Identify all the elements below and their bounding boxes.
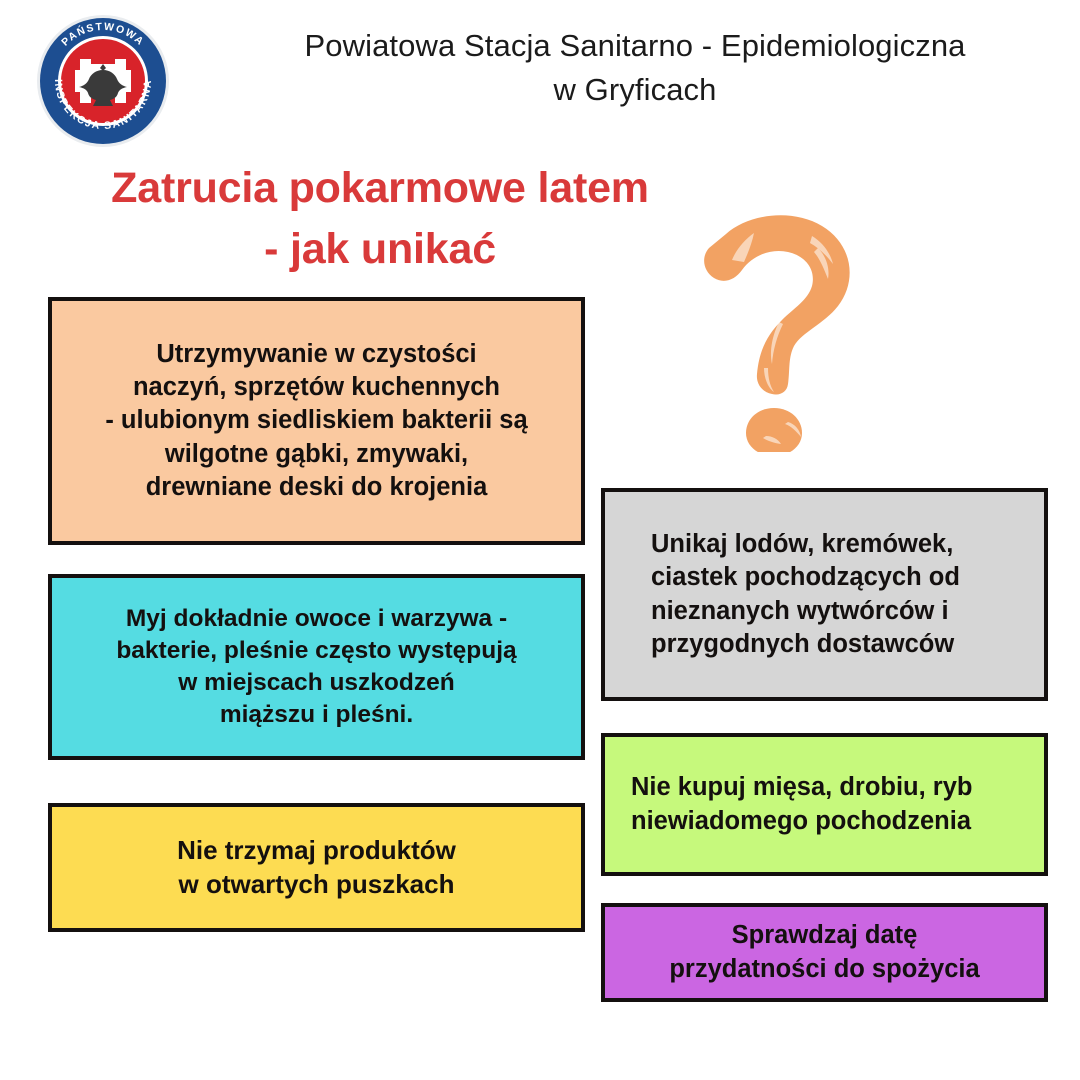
- organisation-name: Powiatowa Stacja Sanitarno - Epidemiolog…: [210, 24, 1060, 112]
- tip-line: w miejscach uszkodzeń: [52, 667, 581, 699]
- tip-line: w otwartych puszkach: [52, 868, 581, 902]
- tip-line: Nie kupuj mięsa, drobiu, ryb: [631, 771, 1032, 804]
- tip-line: wilgotne gąbki, zmywaki,: [52, 438, 581, 471]
- tip-line: Myj dokładnie owoce i warzywa -: [52, 603, 581, 635]
- tip-box-wash-produce: Myj dokładnie owoce i warzywa - bakterie…: [48, 574, 585, 760]
- tip-line: Unikaj lodów, kremówek,: [651, 528, 1032, 561]
- tip-line: miąższu i pleśni.: [52, 699, 581, 731]
- tip-text-hygiene: Utrzymywanie w czystości naczyń, sprzętó…: [52, 338, 581, 504]
- tip-line: naczyń, sprzętów kuchennych: [52, 371, 581, 404]
- tip-text-wash-produce: Myj dokładnie owoce i warzywa - bakterie…: [52, 603, 581, 730]
- tip-box-meat: Nie kupuj mięsa, drobiu, ryb niewiadomeg…: [601, 733, 1048, 876]
- tip-box-open-cans: Nie trzymaj produktów w otwartych puszka…: [48, 803, 585, 932]
- tip-line: Utrzymywanie w czystości: [52, 338, 581, 371]
- tip-line: przygodnych dostawców: [651, 628, 1032, 661]
- tip-line: drewniane deski do krojenia: [52, 471, 581, 504]
- tip-text-sweets: Unikaj lodów, kremówek, ciastek pochodzą…: [651, 528, 1032, 661]
- poster-title-line2: - jak unikać: [60, 219, 700, 280]
- tip-text-meat: Nie kupuj mięsa, drobiu, ryb niewiadomeg…: [631, 771, 1032, 837]
- organisation-name-line2: w Gryficach: [210, 68, 1060, 112]
- organisation-name-line1: Powiatowa Stacja Sanitarno - Epidemiolog…: [304, 28, 965, 63]
- tip-line: nieznanych wytwórców i: [651, 595, 1032, 628]
- tip-box-hygiene: Utrzymywanie w czystości naczyń, sprzętó…: [48, 297, 585, 545]
- tip-line: niewiadomego pochodzenia: [631, 805, 1032, 838]
- tip-text-expiry-date: Sprawdzaj datę przydatności do spożycia: [605, 919, 1044, 985]
- poster-title: Zatrucia pokarmowe latem - jak unikać: [60, 158, 700, 280]
- tip-text-open-cans: Nie trzymaj produktów w otwartych puszka…: [52, 834, 581, 902]
- poster-title-line1: Zatrucia pokarmowe latem: [111, 164, 649, 212]
- tip-line: Sprawdzaj datę: [605, 919, 1044, 952]
- tip-line: ciastek pochodzących od: [651, 561, 1032, 594]
- question-mark-icon: [688, 212, 878, 452]
- tip-line: Nie trzymaj produktów: [52, 834, 581, 868]
- tip-box-expiry-date: Sprawdzaj datę przydatności do spożycia: [601, 903, 1048, 1002]
- infographic-poster: PAŃSTWOWA INSPEKCJA SANITARNA Powiatowa …: [0, 0, 1080, 1080]
- tip-line: - ulubionym siedliskiem bakterii są: [52, 404, 581, 437]
- tip-line: przydatności do spożycia: [605, 953, 1044, 986]
- tip-line: bakterie, pleśnie często występują: [52, 635, 581, 667]
- tip-box-sweets: Unikaj lodów, kremówek, ciastek pochodzą…: [601, 488, 1048, 701]
- question-mark-decoration: [688, 212, 878, 452]
